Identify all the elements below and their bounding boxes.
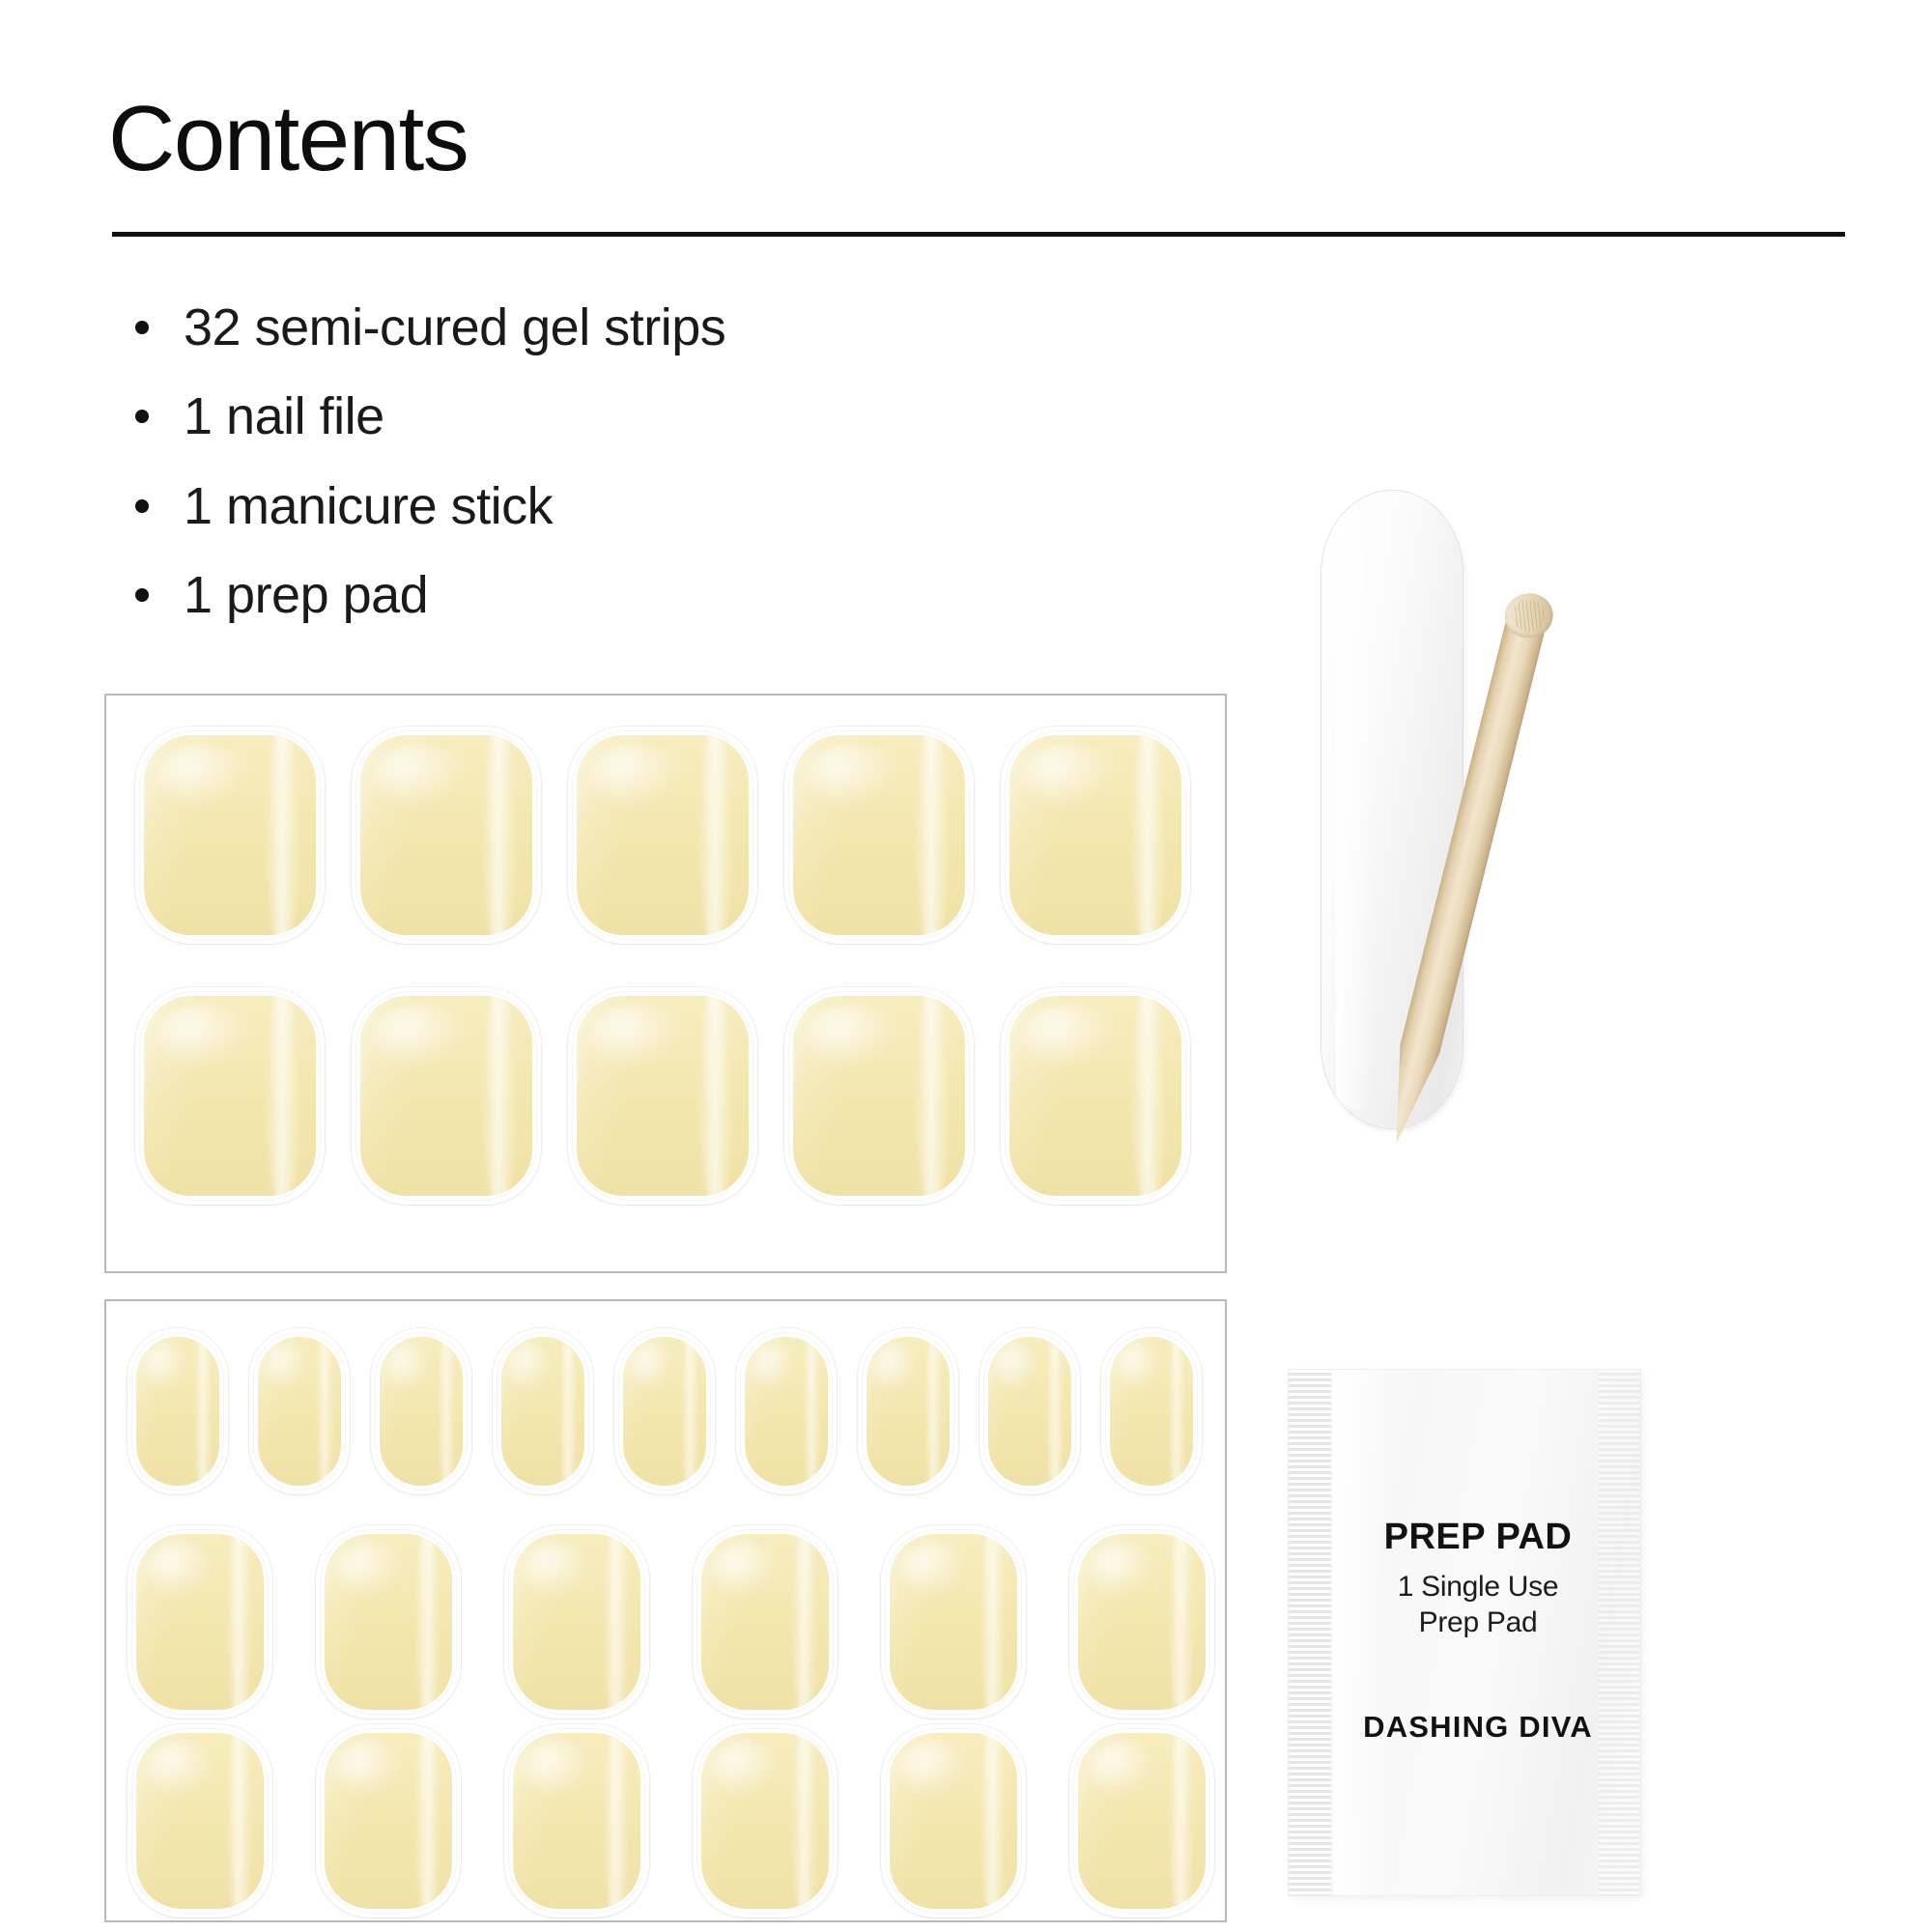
list-item: 1 prep pad — [124, 557, 1186, 633]
gel-strip-body — [867, 1337, 950, 1486]
gel-strip-body — [623, 1337, 706, 1486]
contents-list: 32 semi-cured gel strips 1 nail file 1 m… — [124, 290, 1186, 646]
packet-subtitle-line2: Prep Pad — [1331, 1605, 1625, 1641]
gel-strip — [1001, 726, 1190, 944]
gel-strip — [881, 1525, 1026, 1719]
packet-subtitle-line1: 1 Single Use — [1331, 1570, 1625, 1605]
gel-strip-body — [793, 996, 965, 1196]
strip-row — [135, 987, 1190, 1205]
gel-strip — [1101, 1328, 1202, 1494]
gel-strip — [1001, 987, 1190, 1205]
gel-strip-body — [325, 1534, 452, 1710]
gel-strip-body — [701, 1733, 829, 1909]
gel-strip — [858, 1328, 958, 1494]
strip-row — [135, 726, 1190, 944]
gel-strip-sheet-square — [104, 694, 1227, 1273]
gel-strip-body — [513, 1534, 640, 1710]
bullet-icon — [135, 321, 149, 334]
gel-strip-body — [890, 1534, 1017, 1710]
gel-strip — [128, 1525, 272, 1719]
gel-strip — [1069, 1525, 1214, 1719]
gel-strip-body — [1078, 1534, 1206, 1710]
bullet-icon — [135, 499, 149, 513]
list-item: 1 nail file — [124, 379, 1186, 454]
gel-strip-body — [144, 996, 316, 1196]
gel-strip-body — [380, 1337, 463, 1486]
gel-strip-body — [793, 735, 965, 935]
gel-strip — [135, 987, 325, 1205]
gel-strip-body — [577, 735, 749, 935]
gel-strip — [736, 1328, 837, 1494]
page-title: Contents — [108, 93, 468, 185]
bullet-icon — [135, 410, 149, 423]
gel-strip — [352, 726, 541, 944]
gel-strip-body — [360, 735, 532, 935]
title-divider — [112, 232, 1845, 237]
strip-row — [128, 1328, 1202, 1494]
gel-strip — [316, 1525, 461, 1719]
gel-strip-body — [577, 996, 749, 1196]
gel-strip — [693, 1525, 838, 1719]
gel-strip — [614, 1328, 715, 1494]
packet-brand-logo: DASHING DIVA — [1331, 1710, 1625, 1745]
packet-crimp-left — [1289, 1370, 1331, 1895]
gel-strip — [493, 1328, 593, 1494]
gel-strip-body — [1110, 1337, 1193, 1486]
gel-strip — [784, 987, 974, 1205]
gel-strip — [128, 1328, 228, 1494]
gel-strip — [352, 987, 541, 1205]
gel-strip-body — [136, 1337, 219, 1486]
gel-strip — [504, 1724, 649, 1918]
gel-strip — [980, 1328, 1080, 1494]
gel-strip — [249, 1328, 350, 1494]
gel-strip-body — [513, 1733, 640, 1909]
gel-strip-body — [890, 1733, 1017, 1909]
gel-strip — [135, 726, 325, 944]
strip-row — [128, 1525, 1214, 1719]
gel-strip-body — [1009, 996, 1181, 1196]
gel-strip-body — [136, 1534, 264, 1710]
gel-strip — [568, 726, 757, 944]
gel-strip-body — [501, 1337, 584, 1486]
packet-title: PREP PAD — [1331, 1517, 1625, 1558]
list-item-label: 1 prep pad — [184, 566, 428, 624]
list-item-label: 1 manicure stick — [184, 477, 553, 535]
gel-strip — [316, 1724, 461, 1918]
gel-strip — [128, 1724, 272, 1918]
list-item: 32 semi-cured gel strips — [124, 290, 1186, 365]
gel-strip-body — [144, 735, 316, 935]
gel-strip-body — [136, 1733, 264, 1909]
gel-strip-body — [701, 1534, 829, 1710]
gel-strip — [693, 1724, 838, 1918]
strip-row — [128, 1724, 1214, 1918]
packet-text-block: PREP PAD 1 Single Use Prep Pad — [1331, 1517, 1625, 1640]
gel-strip-body — [745, 1337, 828, 1486]
gel-strip — [784, 726, 974, 944]
prep-pad-packet: PREP PAD 1 Single Use Prep Pad DASHING D… — [1289, 1370, 1640, 1895]
gel-strip-body — [1078, 1733, 1206, 1909]
bullet-icon — [135, 588, 149, 602]
gel-strip-body — [1009, 735, 1181, 935]
gel-strip — [1069, 1724, 1214, 1918]
gel-strip — [881, 1724, 1026, 1918]
gel-strip-sheet-oval — [104, 1299, 1227, 1922]
gel-strip-body — [258, 1337, 341, 1486]
gel-strip — [371, 1328, 471, 1494]
gel-strip — [568, 987, 757, 1205]
gel-strip-body — [988, 1337, 1071, 1486]
list-item: 1 manicure stick — [124, 469, 1186, 544]
gel-strip-body — [360, 996, 532, 1196]
list-item-label: 32 semi-cured gel strips — [184, 298, 725, 356]
gel-strip — [504, 1525, 649, 1719]
gel-strip-body — [325, 1733, 452, 1909]
list-item-label: 1 nail file — [184, 387, 384, 445]
